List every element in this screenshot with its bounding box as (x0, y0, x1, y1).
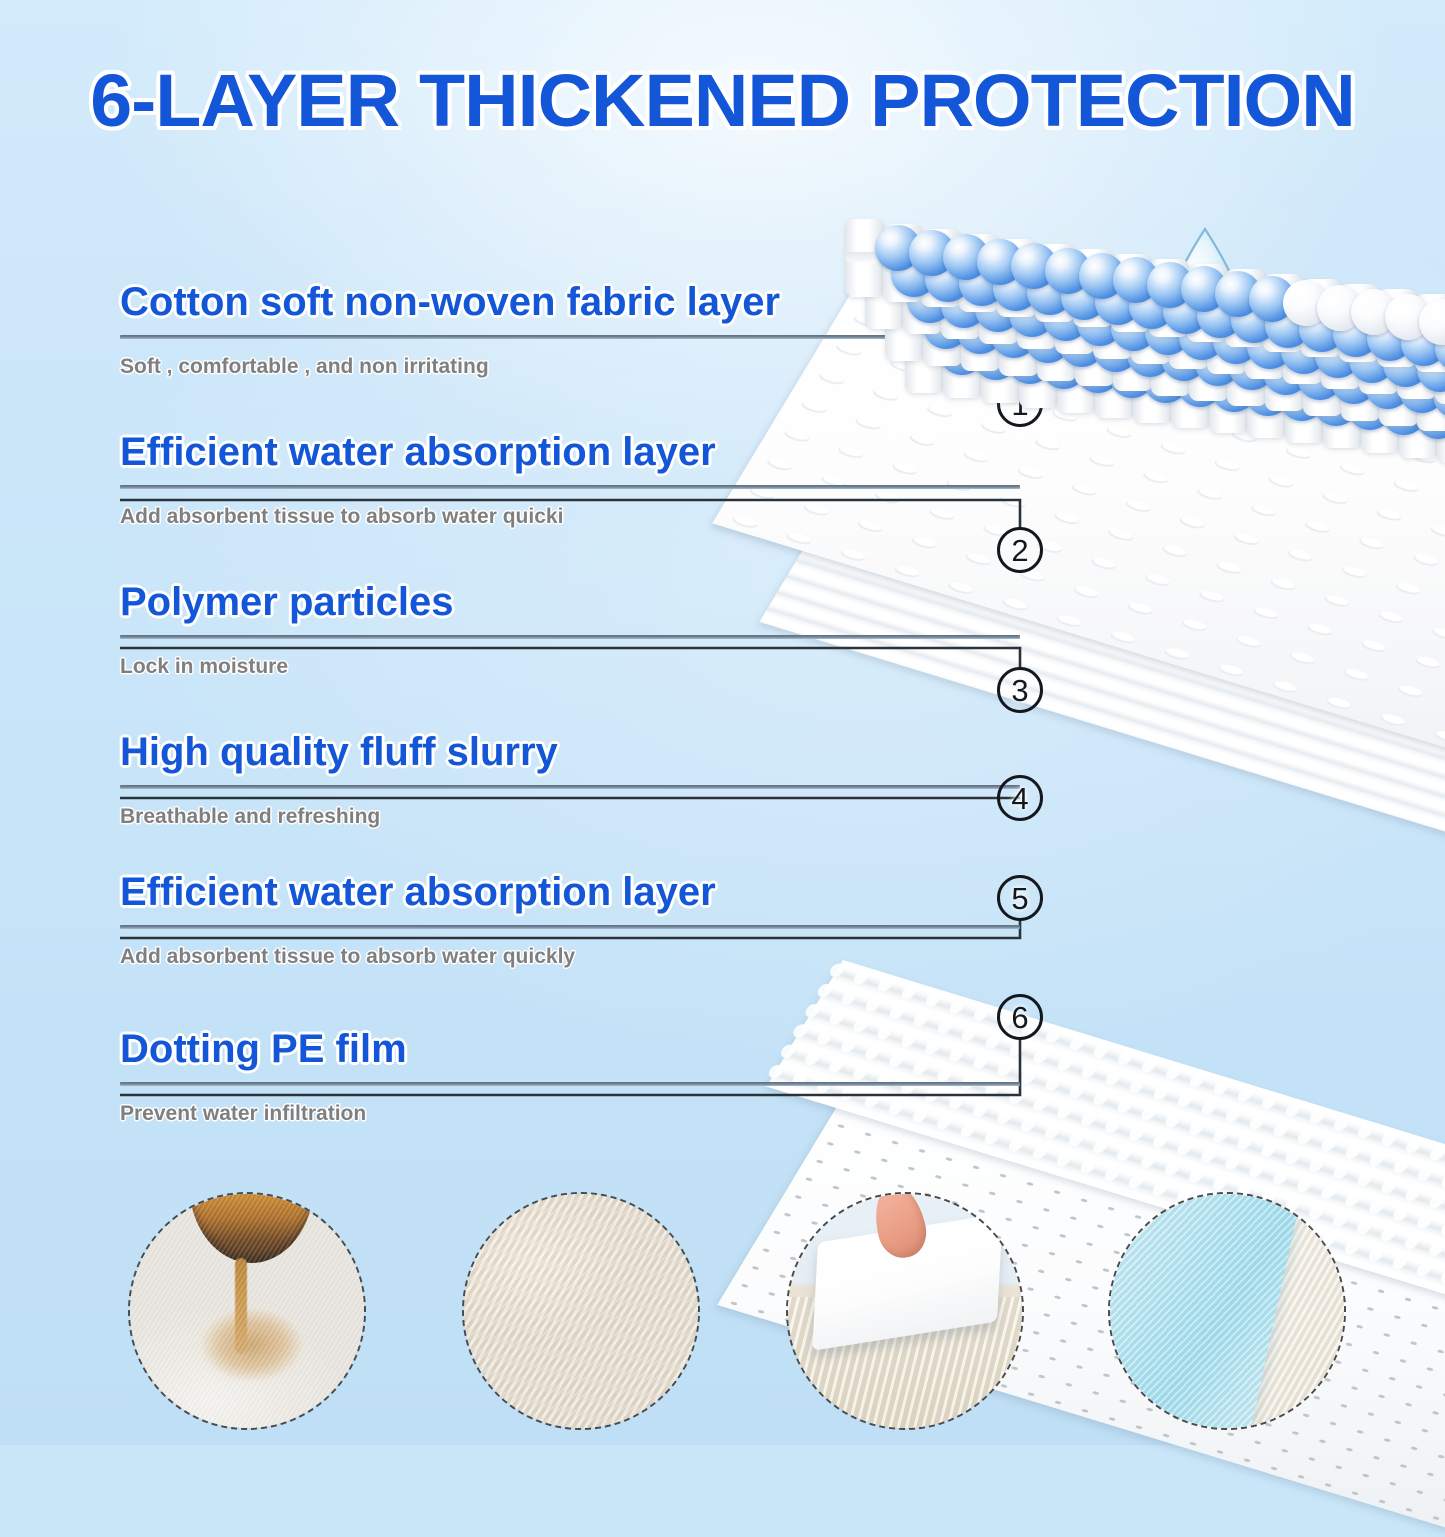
layer-2-rule (120, 485, 1020, 489)
photo-image (128, 1192, 366, 1430)
pulp-texture (462, 1192, 700, 1430)
layer-6-rule (120, 1082, 1020, 1086)
fluff-pulp-texture-photo (462, 1192, 700, 1430)
liquid-absorption-photo (128, 1192, 366, 1430)
layer-badge-2: 2 (997, 527, 1043, 573)
layer-3-subtitle: Lock in moisture (120, 655, 1020, 679)
infographic-root: 6-LAYER THICKENED PROTECTION (0, 0, 1445, 1445)
layer-2-title: Efficient water absorption layer (120, 432, 1020, 472)
layer-5-title: Efficient water absorption layer (120, 872, 1020, 912)
layer-badge-3: 3 (997, 667, 1043, 713)
layer-6-title: Dotting PE film (120, 1029, 1020, 1069)
layer-1-subtitle: Soft , comfortable , and non irritating (120, 355, 1020, 379)
product-photo-row (0, 1178, 1445, 1445)
layer-5-subtitle: Add absorbent tissue to absorb water qui… (120, 945, 1020, 969)
layer-4-title: High quality fluff slurry (120, 732, 1020, 772)
page-title: 6-LAYER THICKENED PROTECTION (0, 58, 1445, 143)
layer-2-subtitle: Add absorbent tissue to absorb water qui… (120, 505, 1020, 529)
photo-image (462, 1192, 700, 1430)
layer-label-3: Polymer particles Lock in moisture (120, 582, 1020, 679)
pe-film-backing-photo (1108, 1192, 1346, 1430)
pad-texture (128, 1192, 366, 1430)
layer-badge-6: 6 (997, 994, 1043, 1040)
layer-5-rule (120, 925, 1020, 929)
layer-6-subtitle: Prevent water infiltration (120, 1102, 1020, 1126)
layer-3-rule (120, 635, 1020, 639)
photo-image (1108, 1192, 1346, 1430)
layer-label-5: Efficient water absorption layer Add abs… (120, 872, 1020, 969)
layer-badge-4: 4 (997, 775, 1043, 821)
layer-label-6: Dotting PE film Prevent water infiltrati… (120, 1029, 1020, 1126)
finger-lifting-pad-photo (786, 1192, 1024, 1430)
layer-label-4: High quality fluff slurry Breathable and… (120, 732, 1020, 829)
photo-image (786, 1192, 1024, 1430)
layer-badge-5: 5 (997, 875, 1043, 921)
layer-3-title: Polymer particles (120, 582, 1020, 622)
layer-4-subtitle: Breathable and refreshing (120, 805, 1020, 829)
layer-4-rule (120, 785, 1020, 789)
layer-label-2: Efficient water absorption layer Add abs… (120, 432, 1020, 529)
